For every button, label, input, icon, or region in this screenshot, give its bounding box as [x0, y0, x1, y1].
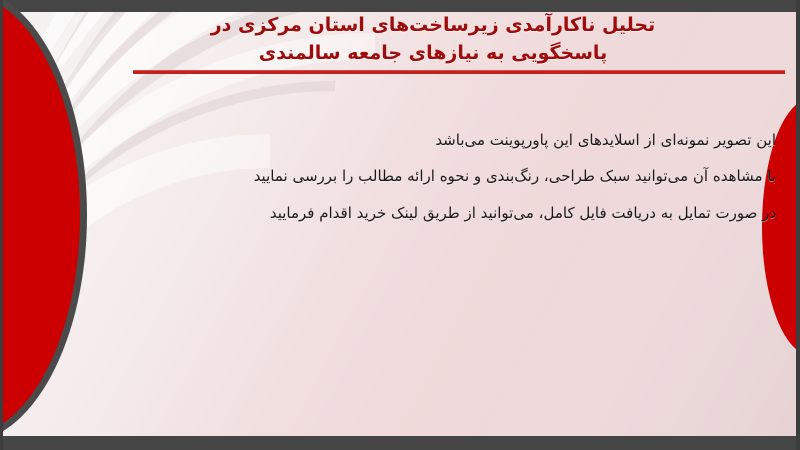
slide-frame-bottom: [0, 436, 800, 450]
slide-frame-left: [0, 0, 3, 450]
presentation-slide: تحلیل ناکارآمدی زیرساخت‌های استان مرکزی …: [0, 0, 800, 450]
slide-body-line-1: این تصویر نمونه‌ای از اسلایدهای این پاور…: [56, 122, 776, 158]
title-underline: [133, 70, 785, 74]
slide-title-line-1: تحلیل ناکارآمدی زیرساخت‌های استان مرکزی …: [88, 12, 778, 40]
slide-body-line-2: با مشاهده آن می‌توانید سبک طراحی، رنگ‌بن…: [56, 158, 776, 194]
slide-body-line-3: در صورت تمایل به دریافت فایل کامل، می‌تو…: [56, 195, 776, 231]
slide-title: تحلیل ناکارآمدی زیرساخت‌های استان مرکزی …: [88, 12, 778, 67]
slide-frame-right: [796, 0, 800, 450]
slide-frame-top: [0, 0, 800, 12]
slide-title-line-2: پاسخگویی به نیازهای جامعه سالمندی: [88, 40, 778, 68]
slide-body: این تصویر نمونه‌ای از اسلایدهای این پاور…: [56, 122, 776, 231]
